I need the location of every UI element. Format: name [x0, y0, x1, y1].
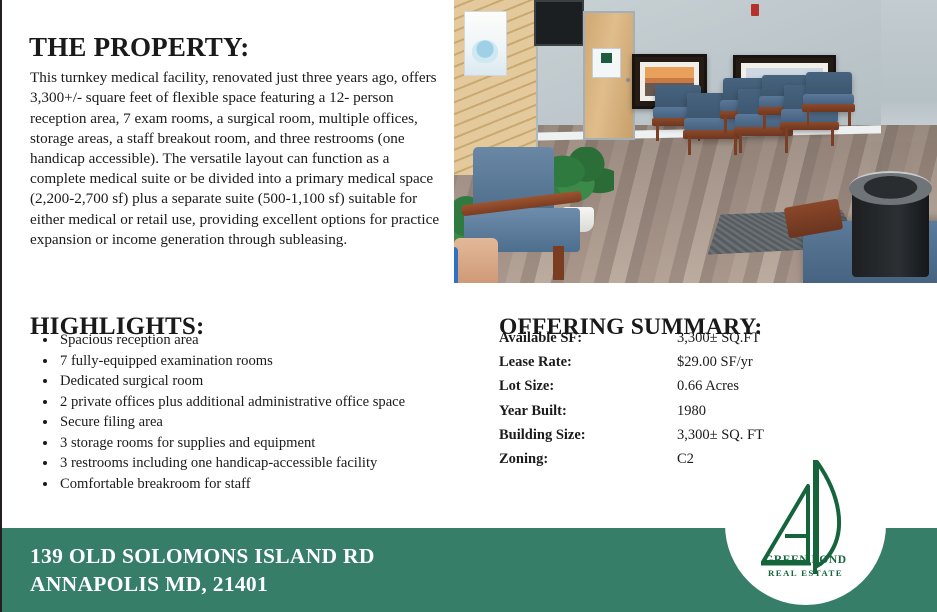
offering-value: $29.00 SF/yr — [677, 354, 879, 371]
offering-label: Lease Rate: — [499, 354, 677, 371]
list-item: Spacious reception area — [58, 330, 513, 351]
logo-wordmark-secondary: REAL ESTATE — [725, 568, 886, 578]
offering-label: Year Built: — [499, 403, 677, 420]
wall-poster — [464, 11, 507, 75]
offering-label: Available SF: — [499, 330, 677, 347]
address-line-2: ANNAPOLIS MD, 21401 — [30, 570, 375, 598]
offering-label: Building Size: — [499, 427, 677, 444]
list-item: Secure filing area — [58, 412, 513, 433]
list-item: Comfortable breakroom for staff — [58, 474, 513, 495]
door-sign — [592, 48, 621, 78]
company-logo: GREEN POND REAL ESTATE — [725, 444, 886, 605]
list-item: 3 restrooms including one handicap-acces… — [58, 453, 513, 474]
offering-value: 3,300± SQ.FT — [677, 330, 879, 347]
list-item: 3 storage rooms for supplies and equipme… — [58, 433, 513, 454]
table-row: Lot Size: 0.66 Acres — [499, 378, 879, 402]
list-item: 7 fully-equipped examination rooms — [58, 351, 513, 372]
table-row: Lease Rate: $29.00 SF/yr — [499, 354, 879, 378]
offering-value: 1980 — [677, 403, 879, 420]
list-item: Dedicated surgical room — [58, 371, 513, 392]
offering-value: 0.66 Acres — [677, 378, 879, 395]
offering-label: Lot Size: — [499, 378, 677, 395]
address-line-1: 139 OLD SOLOMONS ISLAND RD — [30, 542, 375, 570]
list-item: 2 private offices plus additional admini… — [58, 392, 513, 413]
footer-address: 139 OLD SOLOMONS ISLAND RD ANNAPOLIS MD,… — [30, 542, 375, 598]
fire-alarm-icon — [751, 4, 759, 15]
offering-label: Zoning: — [499, 451, 677, 468]
wall-monitor-icon — [534, 0, 584, 46]
property-section-title: THE PROPERTY: — [29, 32, 249, 63]
trash-receptacle — [852, 184, 930, 277]
highlights-list: Spacious reception area 7 fully-equipped… — [30, 330, 513, 494]
table-row: Available SF: 3,300± SQ.FT — [499, 330, 879, 354]
sailboat-icon — [725, 444, 886, 605]
offering-value: 3,300± SQ. FT — [677, 427, 879, 444]
photo-canvas — [454, 0, 937, 283]
person-partial — [454, 238, 498, 283]
property-description: This turnkey medical facility, renovated… — [30, 68, 443, 250]
waiting-chair — [806, 72, 852, 112]
flyer-page: THE PROPERTY: This turnkey medical facil… — [0, 0, 937, 612]
logo-wordmark-primary: GREEN POND — [725, 554, 886, 566]
table-row: Year Built: 1980 — [499, 403, 879, 427]
property-photo — [454, 0, 937, 283]
